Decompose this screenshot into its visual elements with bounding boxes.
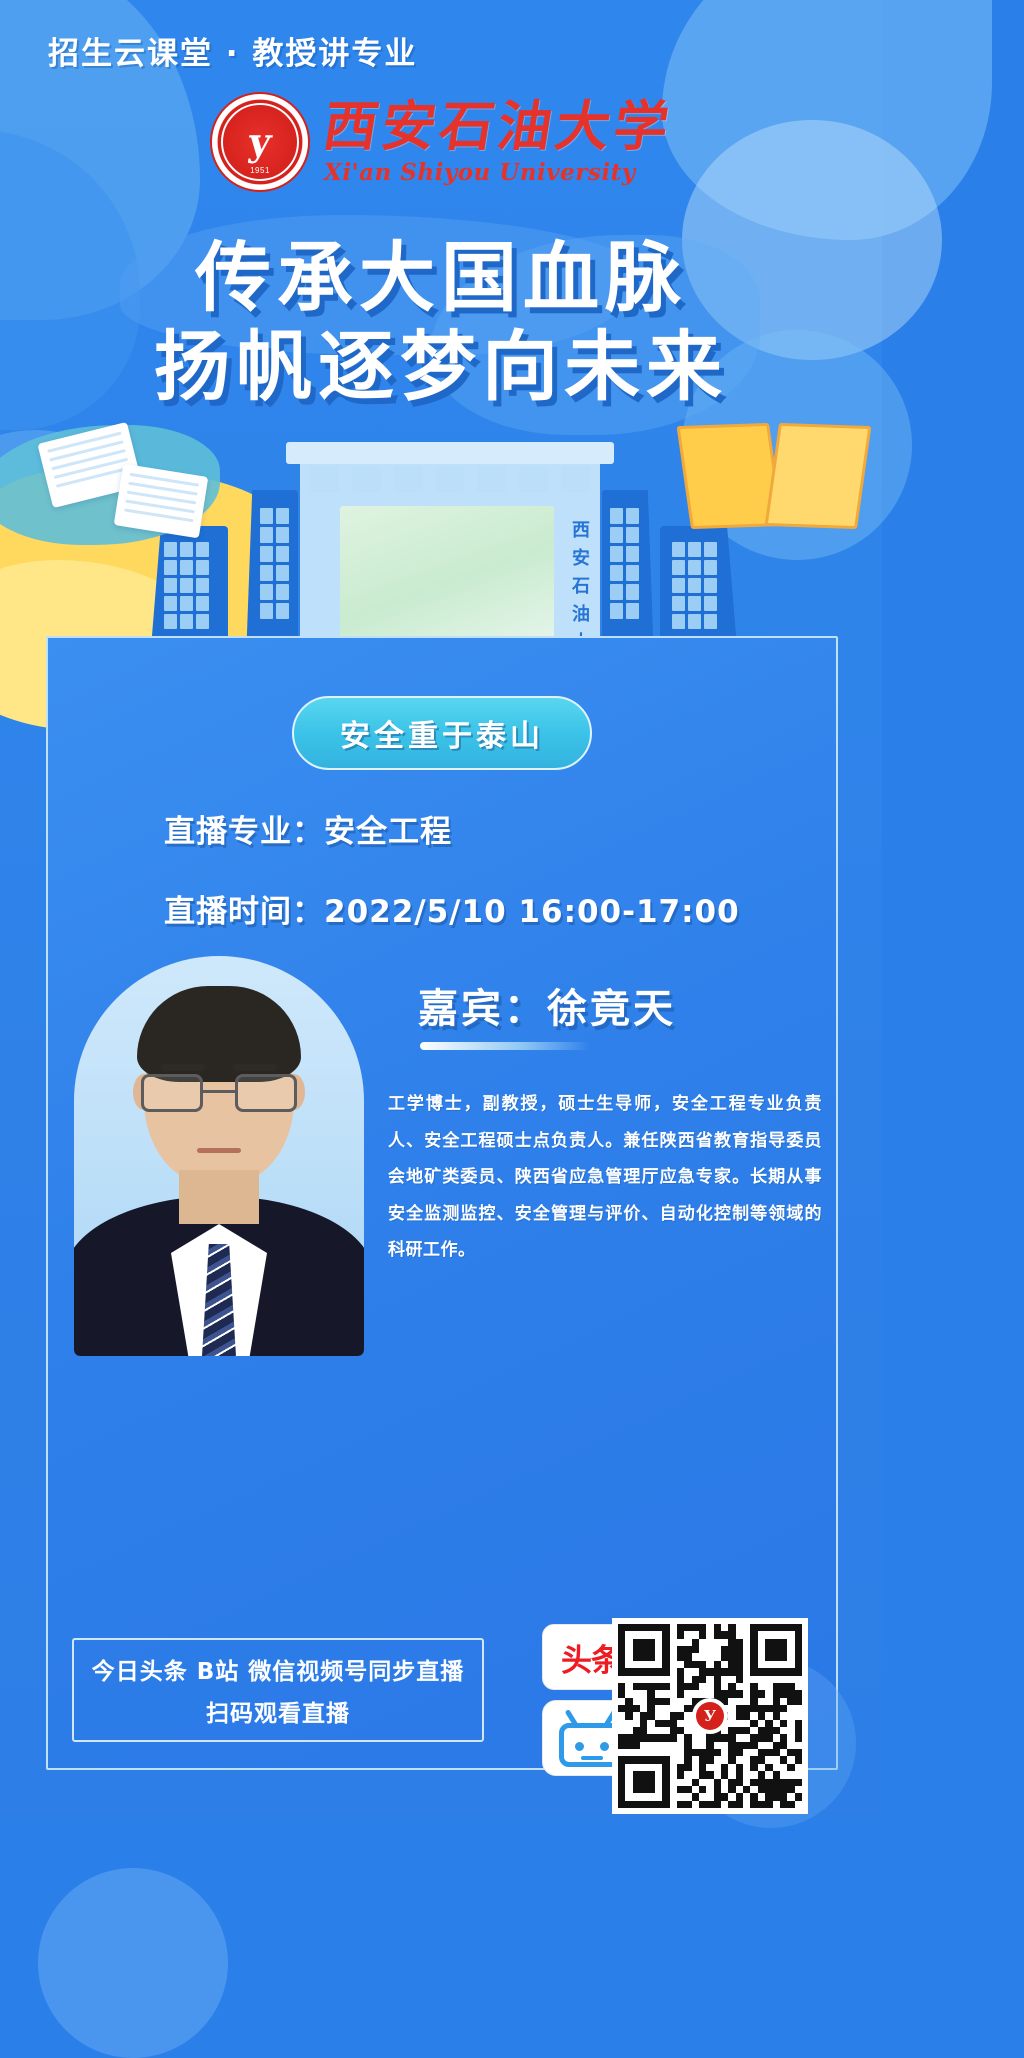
card-decor-circle-left [38, 1868, 228, 2058]
seal-year: 1951 [212, 166, 308, 175]
campus-windows-right-tower [672, 542, 717, 629]
campus-gate-roof [286, 442, 614, 464]
campus-gate-teeth [310, 466, 590, 492]
bilibili-mouth [581, 1756, 603, 1760]
header-kicker: 招生云课堂 · 教授讲专业 [48, 28, 417, 73]
portrait-brow-right [233, 1064, 277, 1071]
guest-name: 嘉宾：徐竟天 [418, 976, 676, 1034]
university-seal-icon: у 1951 [210, 92, 310, 192]
poster-title-line-1: 传承大国血脉 [0, 234, 882, 321]
campus-windows-left-tower [164, 542, 209, 629]
university-logo-text: 西安石油大学 Xi'an Shiyou University [324, 99, 672, 186]
campus-windows-left-pillar [260, 508, 289, 619]
bilibili-eye-right [600, 1742, 609, 1751]
topic-badge: 安全重于泰山 [292, 696, 592, 770]
glasses-lens-right [235, 1074, 297, 1112]
broadcast-platforms-box: 今日头条 B站 微信视频号同步直播 扫码观看直播 [72, 1638, 484, 1742]
paper-lines [123, 473, 199, 529]
glasses-bridge [203, 1090, 235, 1093]
portrait-mouth [197, 1148, 241, 1153]
broadcast-platforms-line: 今日头条 B站 微信视频号同步直播 [92, 1652, 465, 1686]
qr-center-monogram: У [696, 1702, 724, 1730]
book-page-right [765, 423, 872, 529]
guest-portrait-photo [74, 956, 364, 1356]
portrait-glasses-icon [141, 1074, 297, 1114]
bilibili-eye-left [575, 1742, 584, 1751]
university-name-cn: 西安石油大学 [320, 99, 677, 153]
qr-center-logo: У [692, 1698, 728, 1734]
guest-name-underline [420, 1042, 590, 1050]
poster-canvas: 招生云课堂 · 教授讲专业 у 1951 西安石油大学 Xi'an Shiyou… [0, 0, 882, 1820]
portrait-brow-left [161, 1064, 205, 1071]
portrait-neck [179, 1170, 259, 1224]
campus-windows-right-pillar [610, 508, 639, 619]
poster-title-line-2: 扬帆逐梦向未来 [0, 323, 882, 410]
guest-biography: 工学博士，副教授，硕士生导师，安全工程专业负责人、安全工程硕士点负责人。兼任陕西… [388, 1086, 822, 1269]
live-major-line: 直播专业：安全工程 [164, 806, 452, 851]
scan-instruction-line: 扫码观看直播 [206, 1694, 350, 1728]
glasses-lens-left [141, 1074, 203, 1112]
live-qr-code[interactable]: У [612, 1618, 808, 1814]
live-info-card: 安全重于泰山 直播专业：安全工程 直播时间：2022/5/10 16:00-17… [46, 636, 838, 1770]
decor-paper-sheet-2 [114, 464, 209, 539]
poster-title: 传承大国血脉 扬帆逐梦向未来 [0, 234, 882, 411]
live-time-line: 直播时间：2022/5/10 16:00-17:00 [164, 886, 740, 931]
decor-open-book-icon [684, 420, 864, 530]
university-name-en: Xi'an Shiyou University [324, 159, 636, 186]
seal-monogram: у [245, 123, 275, 161]
university-logo: у 1951 西安石油大学 Xi'an Shiyou University [0, 92, 882, 192]
